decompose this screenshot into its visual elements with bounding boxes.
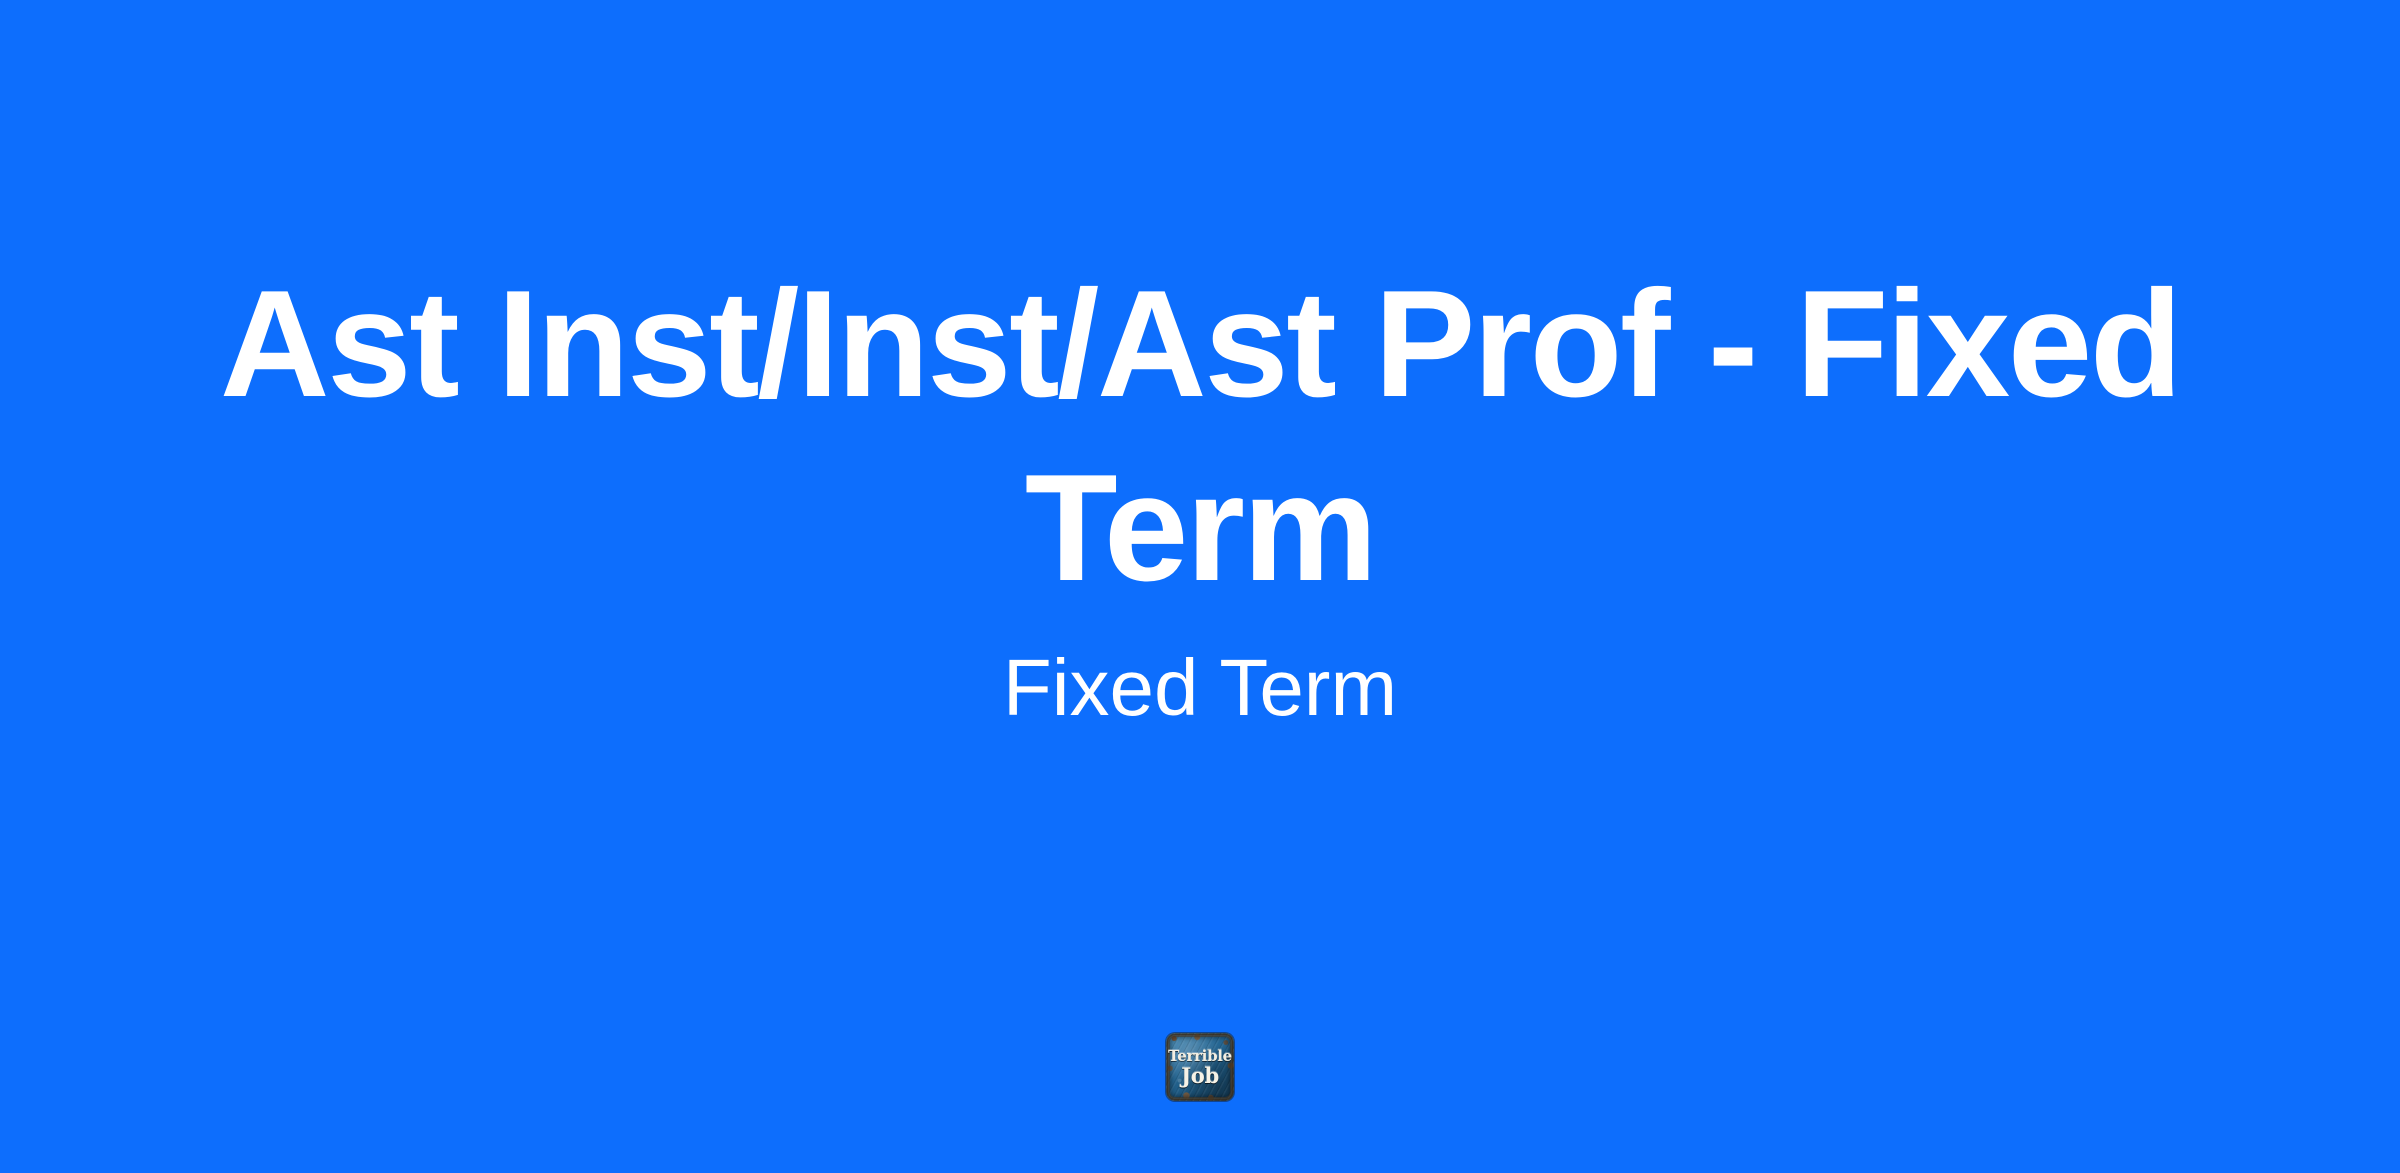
page-title: Ast Inst/Inst/Ast Prof - Fixed Term [0, 252, 2400, 620]
logo-line-job: Job [1181, 1065, 1219, 1086]
logo-line-terrible: Terrible [1168, 1049, 1232, 1064]
logo-text-group: Terrible Job [1166, 1033, 1234, 1101]
hero-section: Ast Inst/Inst/Ast Prof - Fixed Term Fixe… [0, 0, 2400, 1173]
page-subtitle: Fixed Term [0, 640, 2400, 736]
logo-container: Terrible Job [0, 1033, 2400, 1101]
job-posting-hero-card: Ast Inst/Inst/Ast Prof - Fixed Term Fixe… [0, 0, 2400, 1173]
terrible-job-logo-icon[interactable]: Terrible Job [1166, 1033, 1234, 1101]
